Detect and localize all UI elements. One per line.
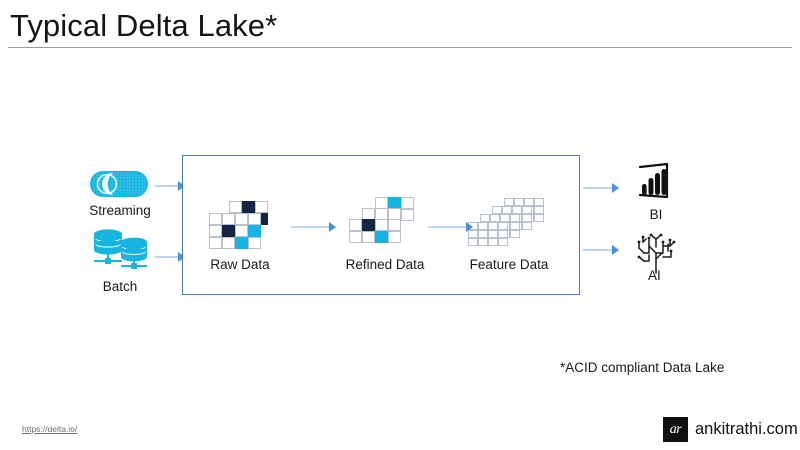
- stage-label-feature: Feature Data: [448, 257, 570, 272]
- arrow-batch-to-lake: [155, 252, 185, 262]
- slide-canvas: Typical Delta Lake* Streaming: [0, 0, 800, 450]
- acid-footnote: *ACID compliant Data Lake: [560, 360, 724, 375]
- raw-data-grid-stack: [209, 201, 271, 249]
- arrow-refined-to-feature: [428, 222, 473, 232]
- stage-label-raw: Raw Data: [185, 257, 295, 272]
- feature-data-grid-stack: [468, 198, 544, 250]
- stage-label-refined: Refined Data: [325, 257, 445, 272]
- brand-monogram-text: ar: [670, 423, 681, 437]
- brand-monogram-icon: ar: [663, 417, 688, 442]
- arrow-streaming-to-lake: [155, 181, 185, 191]
- database-stack-icon: [90, 228, 152, 270]
- page-title: Typical Delta Lake*: [10, 8, 277, 44]
- source-label-batch: Batch: [60, 279, 180, 294]
- arrow-lake-to-ai: [583, 245, 619, 255]
- bar-chart-icon: [633, 163, 679, 201]
- source-label-streaming: Streaming: [60, 203, 180, 218]
- title-divider: [8, 47, 792, 48]
- arrow-raw-to-refined: [291, 222, 336, 232]
- arrow-lake-to-bi: [583, 183, 619, 193]
- output-label-ai: AI: [648, 268, 688, 283]
- output-label-bi: BI: [630, 207, 682, 222]
- brand-name: ankitrathi.com: [695, 420, 798, 439]
- brand-watermark: ar ankitrathi.com: [663, 417, 798, 442]
- refined-data-grid-stack: [349, 197, 419, 249]
- streaming-pill-icon: [90, 171, 148, 197]
- delta-io-link[interactable]: https://delta.io/: [22, 424, 77, 434]
